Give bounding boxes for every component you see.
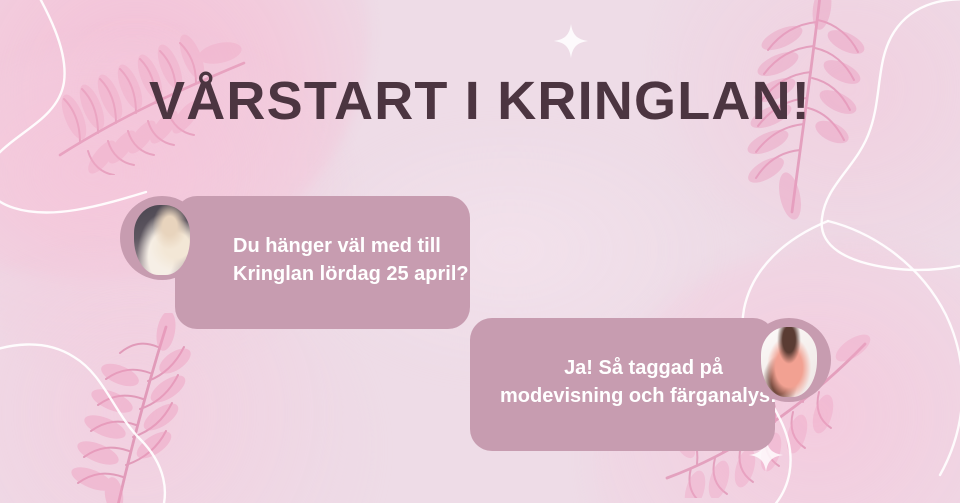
chat-bubble-left-line-2: Kringlan lördag 25 april? xyxy=(233,260,440,288)
chat-bubble-right: Ja! Så taggad på modevisning och färgana… xyxy=(470,318,775,451)
avatar-man xyxy=(747,318,831,402)
avatar-woman xyxy=(120,196,204,280)
chat-message-left: Du hänger väl med till Kringlan lördag 2… xyxy=(120,196,470,329)
avatar-photo xyxy=(761,327,817,397)
avatar-photo xyxy=(134,205,190,275)
leaf-branch-icon-bottom-left xyxy=(48,313,233,503)
curved-line-top-right xyxy=(730,0,960,280)
promo-banner: VÅRSTART I KRINGLAN! Du hänger väl med t… xyxy=(0,0,960,503)
page-title: VÅRSTART I KRINGLAN! xyxy=(0,74,960,128)
sparkle-icon-top xyxy=(552,22,590,60)
chat-message-right: Ja! Så taggad på modevisning och färgana… xyxy=(470,318,831,451)
chat-bubble-left: Du hänger väl med till Kringlan lördag 2… xyxy=(175,196,470,329)
chat-bubble-right-line-1: Ja! Så taggad på xyxy=(500,354,723,382)
chat-bubble-left-line-1: Du hänger väl med till xyxy=(233,232,440,260)
chat-bubble-right-line-2: modevisning och färganalys! xyxy=(500,382,723,410)
